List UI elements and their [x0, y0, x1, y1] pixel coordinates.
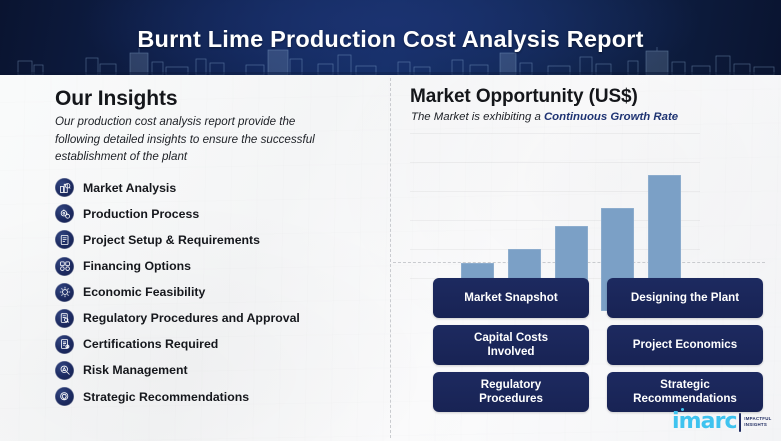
list-item[interactable]: Regulatory Procedures and Approval [55, 305, 385, 331]
financing-options-icon [55, 257, 74, 276]
list-item-label: Economic Feasibility [83, 285, 205, 299]
section-button[interactable]: Designing the Plant [607, 278, 763, 318]
logo-wordmark: imarc [672, 411, 737, 433]
section-button-label: Designing the Plant [631, 291, 739, 305]
header-banner: Burnt Lime Production Cost Analysis Repo… [0, 0, 781, 75]
project-setup-icon [55, 230, 74, 249]
page-title: Burnt Lime Production Cost Analysis Repo… [0, 26, 781, 53]
subtitle-prefix: The Market is exhibiting a [411, 111, 544, 123]
logo-tagline-line2: INSIGHTS [744, 422, 771, 428]
section-button[interactable]: Capital Costs Involved [433, 325, 589, 365]
market-opportunity-subtitle: The Market is exhibiting a Continuous Gr… [411, 111, 678, 123]
list-item[interactable]: Risk Management [55, 358, 385, 384]
section-button-grid: Market SnapshotDesigning the PlantCapita… [433, 278, 763, 412]
insights-list: Market Analysis Production Process [55, 175, 385, 410]
section-button-label: Market Snapshot [464, 291, 557, 305]
strategic-recommendations-icon [55, 387, 74, 406]
list-item-label: Certifications Required [83, 337, 218, 351]
list-item-label: Financing Options [83, 259, 191, 273]
market-opportunity-panel: Market Opportunity (US$) The Market is e… [390, 75, 781, 441]
section-button-label: Capital Costs Involved [474, 331, 548, 359]
imarc-logo: imarc IMPACTFUL INSIGHTS [672, 409, 772, 435]
section-button-label: Project Economics [633, 338, 737, 352]
section-button[interactable]: Project Economics [607, 325, 763, 365]
list-item[interactable]: Project Setup & Requirements [55, 227, 385, 253]
list-item-label: Risk Management [83, 363, 188, 377]
list-item[interactable]: Production Process [55, 201, 385, 227]
section-button[interactable]: Market Snapshot [433, 278, 589, 318]
list-item[interactable]: Economic Feasibility [55, 279, 385, 305]
market-analysis-icon [55, 178, 74, 197]
list-item-label: Production Process [83, 207, 199, 221]
logo-divider-bar [739, 413, 742, 432]
list-item-label: Project Setup & Requirements [83, 233, 260, 247]
insights-title: Our Insights [55, 87, 177, 111]
list-item-label: Strategic Recommendations [83, 390, 249, 404]
regulatory-procedures-icon [55, 309, 74, 328]
list-item-label: Market Analysis [83, 181, 176, 195]
list-item[interactable]: Certifications Required [55, 332, 385, 358]
insights-subtitle: Our production cost analysis report prov… [55, 113, 333, 166]
risk-management-icon [55, 361, 74, 380]
section-button-label: Regulatory Procedures [479, 378, 543, 406]
list-item[interactable]: Strategic Recommendations [55, 384, 385, 410]
list-item-label: Regulatory Procedures and Approval [83, 311, 300, 325]
logo-tagline: IMPACTFUL INSIGHTS [744, 416, 771, 428]
gridline [410, 133, 700, 134]
market-opportunity-title: Market Opportunity (US$) [410, 86, 638, 108]
section-button-label: Strategic Recommendations [633, 378, 737, 406]
section-button[interactable]: Strategic Recommendations [607, 372, 763, 412]
economic-feasibility-icon [55, 283, 74, 302]
slide-root: Burnt Lime Production Cost Analysis Repo… [0, 0, 781, 441]
insights-panel: Our Insights Our production cost analysi… [0, 75, 390, 441]
section-button[interactable]: Regulatory Procedures [433, 372, 589, 412]
certifications-icon [55, 335, 74, 354]
production-process-icon [55, 204, 74, 223]
list-item[interactable]: Financing Options [55, 253, 385, 279]
subtitle-highlight: Continuous Growth Rate [544, 111, 678, 123]
list-item[interactable]: Market Analysis [55, 175, 385, 201]
